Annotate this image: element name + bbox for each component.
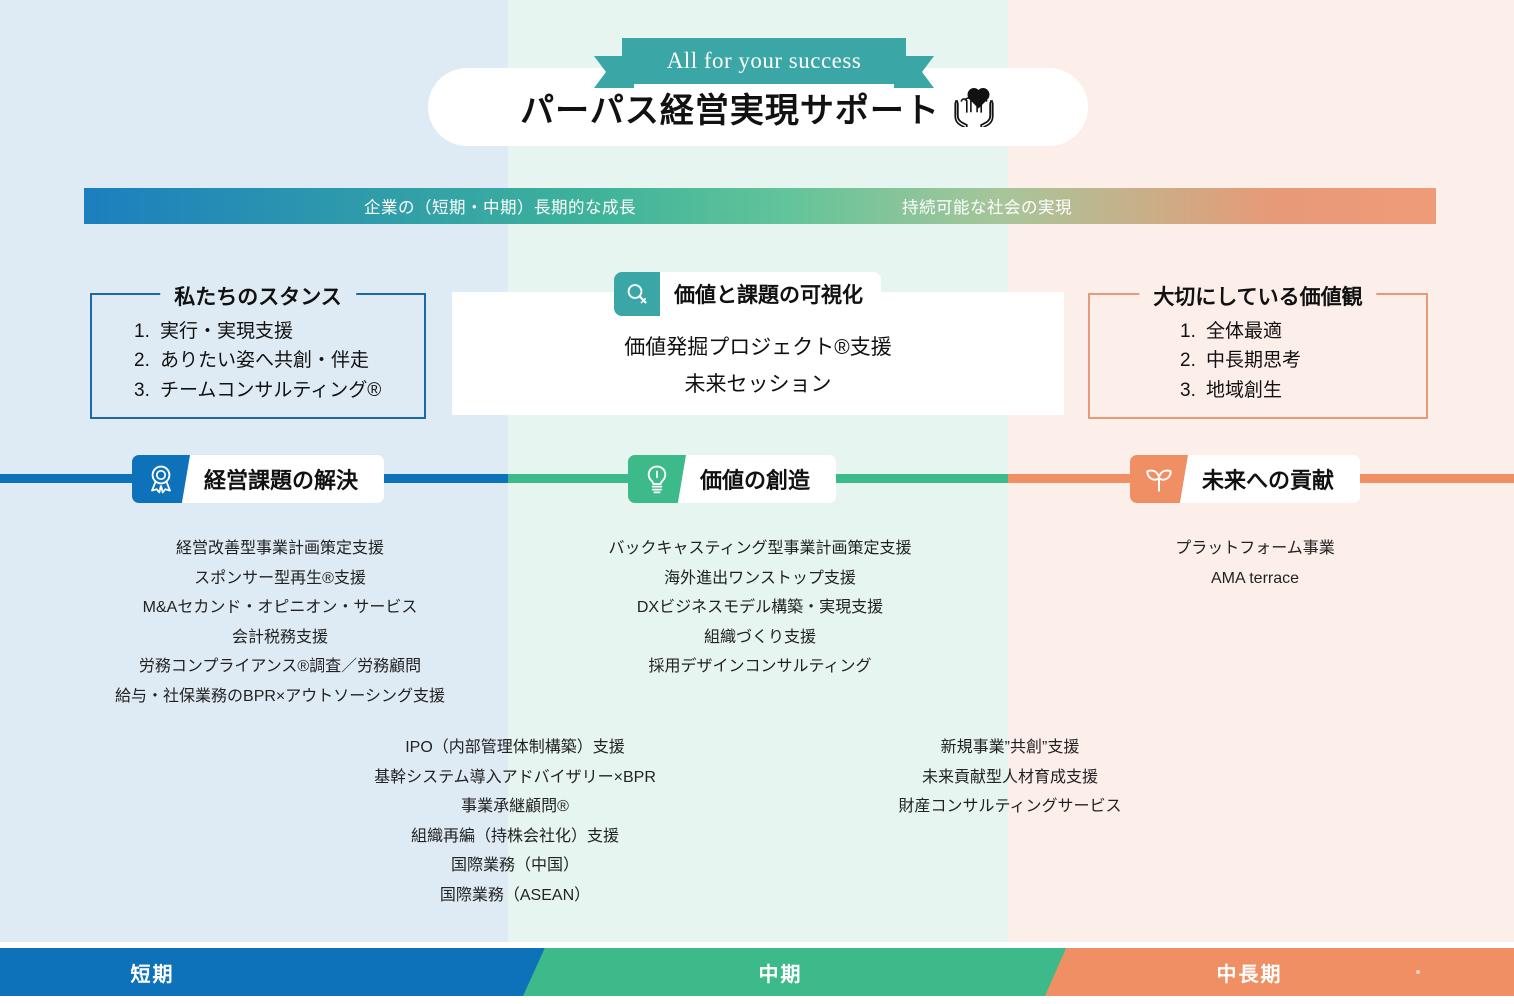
list-item: 3.チームコンサルティング® (134, 376, 424, 405)
list-item-label: 全体最適 (1206, 321, 1282, 342)
list-item-number: 1. (134, 317, 160, 346)
visualization-line: 未来セッション (452, 367, 1064, 404)
timeline-bar: 短期 中期 中長期 (0, 948, 1514, 996)
list-item-number: 1. (1180, 317, 1206, 346)
growth-gradient-bar: 企業の（短期・中期）長期的な成長 持続可能な社会の実現 (84, 188, 1436, 224)
timeline-marker-dot (1416, 970, 1420, 974)
pillar-label: 未来への貢献 (1188, 455, 1360, 503)
visualization-tag: 価値と課題の可視化 (614, 272, 881, 316)
service-item: 経営改善型事業計画策定支援 (60, 534, 500, 564)
service-list-lower-mid: IPO（内部管理体制構築）支援 基幹システム導入アドバイザリー×BPR 事業承継… (330, 733, 700, 911)
ribbon-banner: All for your success (594, 38, 934, 88)
our-stance-list: 1.実行・実現支援 2.ありたい姿へ共創・伴走 3.チームコンサルティング® (92, 317, 424, 405)
list-item: 2.ありたい姿へ共創・伴走 (134, 346, 424, 375)
service-item: 基幹システム導入アドバイザリー×BPR (330, 763, 700, 793)
service-item: 国際業務（中国） (330, 851, 700, 881)
award-ribbon-icon (132, 455, 190, 503)
sprout-icon (1130, 455, 1188, 503)
service-item: プラットフォーム事業 (1090, 534, 1420, 564)
service-list-long-term: プラットフォーム事業 AMA terrace (1090, 534, 1420, 593)
service-item: 組織づくり支援 (560, 623, 960, 653)
service-item: IPO（内部管理体制構築）支援 (330, 733, 700, 763)
service-item: 未来貢献型人材育成支援 (860, 763, 1160, 793)
our-stance-box: 私たちのスタンス 1.実行・実現支援 2.ありたい姿へ共創・伴走 3.チームコン… (90, 293, 426, 419)
timeline-label: 短期 (131, 958, 175, 987)
service-item: 国際業務（ASEAN） (330, 881, 700, 911)
pillar-label: 経営課題の解決 (190, 455, 384, 503)
list-item-number: 2. (1180, 346, 1206, 375)
pillar-future-contribution: 未来への貢献 (1130, 455, 1360, 503)
service-list-mid-term: バックキャスティング型事業計画策定支援 海外進出ワンストップ支援 DXビジネスモ… (560, 534, 960, 682)
lightbulb-icon (628, 455, 686, 503)
visualization-tag-label: 価値と課題の可視化 (660, 272, 881, 316)
growth-bar-left-label: 企業の（短期・中期）長期的な成長 (364, 188, 636, 224)
service-item: 事業承継顧問® (330, 792, 700, 822)
pillar-value-creation: 価値の創造 (628, 455, 836, 503)
service-item: 採用デザインコンサルティング (560, 652, 960, 682)
list-item: 2.中長期思考 (1180, 346, 1426, 375)
service-item: 海外進出ワンストップ支援 (560, 564, 960, 594)
list-item-label: ありたい姿へ共創・伴走 (160, 350, 369, 371)
service-item: DXビジネスモデル構築・実現支援 (560, 593, 960, 623)
core-values-box: 大切にしている価値観 1.全体最適 2.中長期思考 3.地域創生 (1088, 293, 1428, 419)
visualization-line: 価値発掘プロジェクト®支援 (452, 330, 1064, 367)
visualization-card-body: 価値発掘プロジェクト®支援 未来セッション (452, 330, 1064, 404)
timeline-segment-short: 短期 (0, 948, 545, 996)
list-item: 1.全体最適 (1180, 317, 1426, 346)
hands-holding-heart-icon (952, 87, 996, 127)
service-item: AMA terrace (1090, 564, 1420, 594)
ribbon-text: All for your success (667, 48, 862, 74)
list-item: 3.地域創生 (1180, 376, 1426, 405)
service-item: M&Aセカンド・オピニオン・サービス (60, 593, 500, 623)
service-item: 会計税務支援 (60, 623, 500, 653)
list-item-number: 3. (134, 376, 160, 405)
pillar-label: 価値の創造 (686, 455, 836, 503)
timeline-label: 中長期 (1217, 958, 1283, 987)
list-item: 1.実行・実現支援 (134, 317, 424, 346)
service-item: 給与・社保業務のBPR×アウトソーシング支援 (60, 682, 500, 712)
growth-bar-right-label: 持続可能な社会の実現 (902, 188, 1072, 224)
service-list-short-term: 経営改善型事業計画策定支援 スポンサー型再生®支援 M&Aセカンド・オピニオン・… (60, 534, 500, 712)
timeline-label: 中期 (759, 958, 803, 987)
core-values-title: 大切にしている価値観 (1139, 281, 1376, 311)
service-item: 労務コンプライアンス®調査／労務顧問 (60, 652, 500, 682)
service-item: 新規事業”共創”支援 (860, 733, 1160, 763)
purpose-management-support-diagram: All for your success パーパス経営実現サポート 企業の（短期… (0, 0, 1514, 1004)
list-item-number: 2. (134, 346, 160, 375)
service-list-lower-right: 新規事業”共創”支援 未来貢献型人材育成支援 財産コンサルティングサービス (860, 733, 1160, 822)
ribbon-body: All for your success (622, 38, 906, 84)
list-item-label: 実行・実現支援 (160, 321, 293, 342)
core-values-list: 1.全体最適 2.中長期思考 3.地域創生 (1090, 317, 1426, 405)
list-item-label: チームコンサルティング® (160, 380, 381, 401)
list-item-label: 地域創生 (1206, 380, 1282, 401)
timeline-segment-long: 中長期 (1045, 948, 1514, 996)
service-item: 組織再編（持株会社化）支援 (330, 822, 700, 852)
service-item: 財産コンサルティングサービス (860, 792, 1160, 822)
timeline-segment-mid: 中期 (523, 948, 1068, 996)
page-title: パーパス経営実現サポート (520, 83, 940, 132)
service-item: バックキャスティング型事業計画策定支援 (560, 534, 960, 564)
pillar-management-issue-resolution: 経営課題の解決 (132, 455, 384, 503)
list-item-label: 中長期思考 (1206, 350, 1301, 371)
magnifier-icon (614, 272, 660, 316)
service-item: スポンサー型再生®支援 (60, 564, 500, 594)
our-stance-title: 私たちのスタンス (160, 281, 356, 311)
list-item-number: 3. (1180, 376, 1206, 405)
